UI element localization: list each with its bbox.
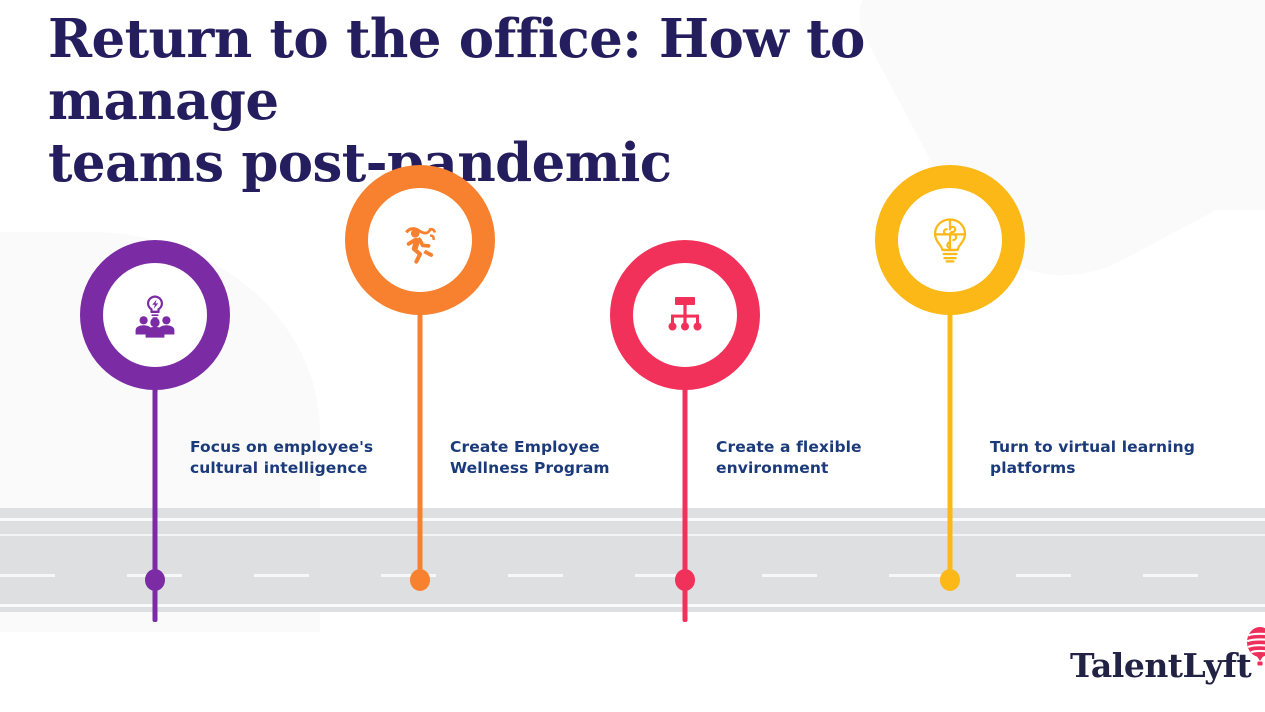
caption-step-1: Focus on employee's cultural intelligenc… xyxy=(190,437,390,479)
road-edge-line-top xyxy=(0,518,1265,521)
road-dashed-center-line xyxy=(0,574,1265,577)
org-chart-icon xyxy=(662,292,708,338)
pin-dot-3 xyxy=(675,569,695,591)
icon-ring-4[interactable] xyxy=(875,165,1025,315)
icon-ring-1[interactable] xyxy=(80,240,230,390)
page-title: Return to the office: How to manage team… xyxy=(48,8,1048,194)
background-shape-corner xyxy=(1085,0,1265,210)
people-idea-icon xyxy=(129,289,181,341)
infographic-canvas: Return to the office: How to manage team… xyxy=(0,0,1265,712)
caption-step-4: Turn to virtual learning platforms xyxy=(990,437,1205,479)
pin-dot-2 xyxy=(410,569,430,591)
caption-step-3: Create a flexible environment xyxy=(716,437,916,479)
road-band xyxy=(0,508,1265,612)
puzzle-lightbulb-icon xyxy=(925,215,975,265)
logo-wordmark: TalentLyft xyxy=(1070,649,1251,683)
pin-stem-2 xyxy=(418,313,423,572)
road-edge-line-bottom xyxy=(0,604,1265,607)
caption-step-2: Create Employee Wellness Program xyxy=(450,437,650,479)
pin-dot-4 xyxy=(940,569,960,591)
runner-finish-line-icon xyxy=(394,214,446,266)
icon-ring-3[interactable] xyxy=(610,240,760,390)
icon-ring-2[interactable] xyxy=(345,165,495,315)
hot-air-balloon-icon xyxy=(1243,626,1265,677)
pin-dot-1 xyxy=(145,569,165,591)
talentlyft-logo[interactable]: TalentLyft xyxy=(1070,626,1265,683)
road-edge-line-upper xyxy=(0,534,1265,536)
pin-stem-4 xyxy=(948,313,953,572)
